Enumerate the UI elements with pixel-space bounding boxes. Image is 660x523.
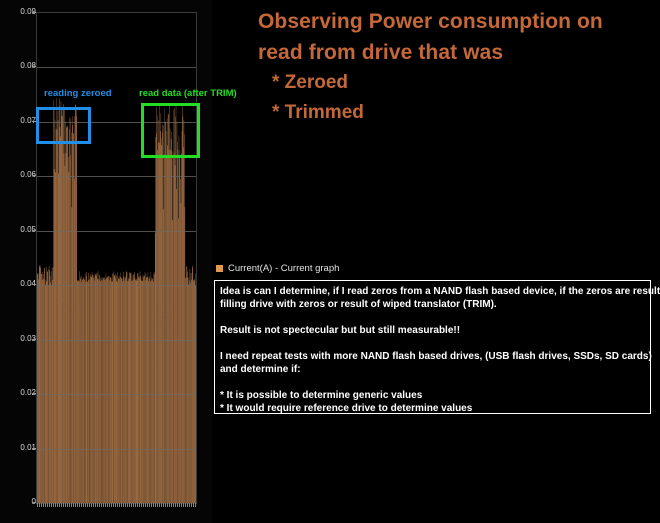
annotation-box-read-after-trim[interactable] [141, 103, 200, 158]
note-line: I need repeat tests with more NAND flash… [220, 350, 645, 363]
x-tick-mark [103, 503, 104, 507]
x-tick-mark [147, 503, 148, 507]
x-tick-mark [75, 503, 76, 507]
x-tick-mark [185, 503, 186, 507]
x-tick-mark [141, 503, 142, 507]
x-tick-mark [93, 503, 94, 507]
x-tick-mark [149, 503, 150, 507]
x-tick-mark [83, 503, 84, 507]
x-tick-mark [145, 503, 146, 507]
x-tick-mark [51, 503, 52, 507]
x-tick-mark [161, 503, 162, 507]
chart-legend: Current(A) - Current graph [216, 263, 339, 274]
annotation-box-reading-zeroed[interactable] [36, 107, 91, 144]
x-tick-mark [91, 503, 92, 507]
x-tick-mark [49, 503, 50, 507]
x-tick-mark [47, 503, 48, 507]
x-tick-mark [53, 503, 54, 507]
x-tick-mark [105, 503, 106, 507]
note-spacer [220, 311, 645, 324]
legend-swatch-icon [216, 265, 223, 272]
x-tick-mark [37, 503, 38, 507]
x-tick-mark [41, 503, 42, 507]
x-tick-mark [115, 503, 116, 507]
gridline [37, 67, 196, 68]
x-tick-mark [195, 503, 196, 507]
title-line-2: read from drive that was [258, 37, 656, 68]
x-tick-mark [125, 503, 126, 507]
x-tick-mark [179, 503, 180, 507]
x-tick-mark [159, 503, 160, 507]
x-tick-mark [127, 503, 128, 507]
title-block: Observing Power consumption on read from… [258, 6, 656, 128]
note-spacer [220, 376, 645, 389]
gridline [37, 449, 196, 450]
x-tick-mark [111, 503, 112, 507]
x-tick-mark [173, 503, 174, 507]
x-tick-mark [157, 503, 158, 507]
x-tick-mark [163, 503, 164, 507]
x-tick-mark [123, 503, 124, 507]
x-tick-mark [155, 503, 156, 507]
x-tick-mark [139, 503, 140, 507]
x-tick-mark [45, 503, 46, 507]
x-tick-mark [67, 503, 68, 507]
x-tick-mark [175, 503, 176, 507]
note-spacer [220, 337, 645, 350]
x-tick-mark [169, 503, 170, 507]
x-tick-mark [63, 503, 64, 507]
x-tick-mark [165, 503, 166, 507]
x-tick-mark [193, 503, 194, 507]
x-tick-mark [135, 503, 136, 507]
x-tick-mark [101, 503, 102, 507]
x-tick-mark [43, 503, 44, 507]
x-tick-mark [151, 503, 152, 507]
x-tick-mark [55, 503, 56, 507]
y-axis: 0.090.080.070.060.050.040.030.020.010 [0, 0, 36, 523]
x-tick-mark [137, 503, 138, 507]
x-tick-mark [65, 503, 66, 507]
title-line-1: Observing Power consumption on [258, 6, 656, 37]
x-tick-mark [191, 503, 192, 507]
x-tick-mark [143, 503, 144, 507]
note-line: * It would require reference drive to de… [220, 402, 645, 415]
x-tick-mark [153, 503, 154, 507]
x-tick-mark [77, 503, 78, 507]
x-tick-mark [61, 503, 62, 507]
x-tick-mark [181, 503, 182, 507]
gridline [37, 231, 196, 232]
x-tick-mark [183, 503, 184, 507]
x-tick-mark [189, 503, 190, 507]
x-tick-mark [109, 503, 110, 507]
x-tick-mark [113, 503, 114, 507]
x-tick-mark [57, 503, 58, 507]
gridline [37, 340, 196, 341]
x-tick-mark [167, 503, 168, 507]
slide-root: 0.090.080.070.060.050.040.030.020.010 re… [0, 0, 660, 523]
x-tick-mark [89, 503, 90, 507]
gridline [37, 176, 196, 177]
annotation-label-reading-zeroed: reading zeroed [44, 88, 112, 99]
x-tick-mark [97, 503, 98, 507]
x-tick-mark [99, 503, 100, 507]
annotation-label-read-after-trim: read data (after TRIM) [139, 88, 237, 99]
notes-box: Idea is can I determine, if I read zeros… [214, 280, 651, 414]
x-tick-mark [117, 503, 118, 507]
x-tick-mark [121, 503, 122, 507]
gridline [37, 285, 196, 286]
note-line: and determine if: [220, 363, 645, 376]
x-tick-mark [71, 503, 72, 507]
x-tick-mark [85, 503, 86, 507]
legend-label: Current(A) - Current graph [228, 263, 339, 274]
x-tick-mark [95, 503, 96, 507]
x-tick-mark [187, 503, 188, 507]
x-tick-mark [177, 503, 178, 507]
plot-area [36, 12, 197, 504]
x-tick-mark [39, 503, 40, 507]
x-tick-mark [129, 503, 130, 507]
gridline [37, 394, 196, 395]
x-tick-mark [171, 503, 172, 507]
x-tick-mark [119, 503, 120, 507]
x-tick-mark [131, 503, 132, 507]
note-line: filling drive with zeros or result of wi… [220, 298, 645, 311]
x-tick-mark [73, 503, 74, 507]
x-tick-mark [87, 503, 88, 507]
current-waveform [37, 13, 196, 503]
x-tick-mark [107, 503, 108, 507]
x-tick-mark [59, 503, 60, 507]
current-graph-panel: 0.090.080.070.060.050.040.030.020.010 re… [0, 0, 212, 523]
title-bullet-trimmed: * Trimmed [258, 98, 656, 128]
x-tick-mark [81, 503, 82, 507]
note-line: Result is not spectecular but but still … [220, 324, 645, 337]
x-axis-ticks [37, 503, 196, 508]
x-tick-mark [79, 503, 80, 507]
note-line: Idea is can I determine, if I read zeros… [220, 285, 645, 298]
title-bullet-zeroed: * Zeroed [258, 68, 656, 98]
note-line: * It is possible to determine generic va… [220, 389, 645, 402]
x-tick-mark [69, 503, 70, 507]
x-tick-mark [133, 503, 134, 507]
